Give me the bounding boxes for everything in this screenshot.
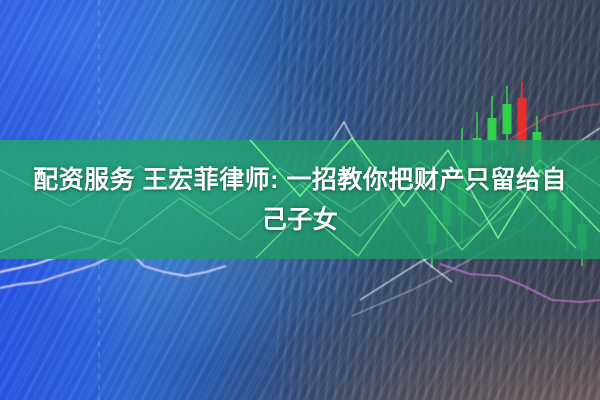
banner-title: 配资服务 王宏菲律师: 一招教你把财产只留给自 己子女 — [0, 140, 600, 259]
title-line-2: 己子女 — [262, 200, 339, 240]
title-line-1: 配资服务 王宏菲律师: 一招教你把财产只留给自 — [33, 160, 567, 200]
candle-body — [503, 104, 512, 134]
banner-image: 配资服务 王宏菲律师: 一招教你把财产只留给自 己子女 — [0, 0, 600, 400]
